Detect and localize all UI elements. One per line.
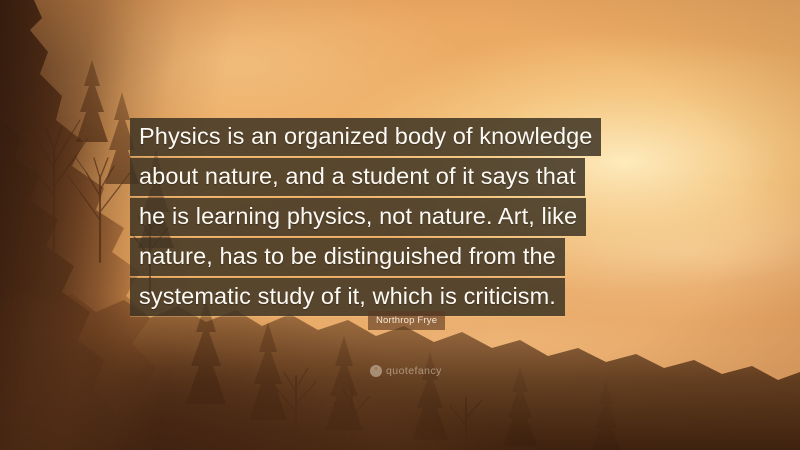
quote-line: he is learning physics, not nature. Art,… bbox=[130, 198, 586, 236]
quote-line: systematic study of it, which is critici… bbox=[130, 278, 565, 316]
watermark-label: quotefancy bbox=[386, 365, 442, 377]
watermark: “ quotefancy bbox=[370, 365, 442, 377]
quote-mark-icon: “ bbox=[370, 365, 382, 377]
quote-line: about nature, and a student of it says t… bbox=[130, 158, 585, 196]
quote-image: Physics is an organized body of knowledg… bbox=[0, 0, 800, 450]
quote-line: nature, has to be distinguished from the bbox=[130, 238, 565, 276]
quote-block: Physics is an organized body of knowledg… bbox=[130, 118, 690, 318]
quote-line: Physics is an organized body of knowledg… bbox=[130, 118, 601, 156]
author-attribution: Northrop Frye bbox=[368, 311, 445, 330]
